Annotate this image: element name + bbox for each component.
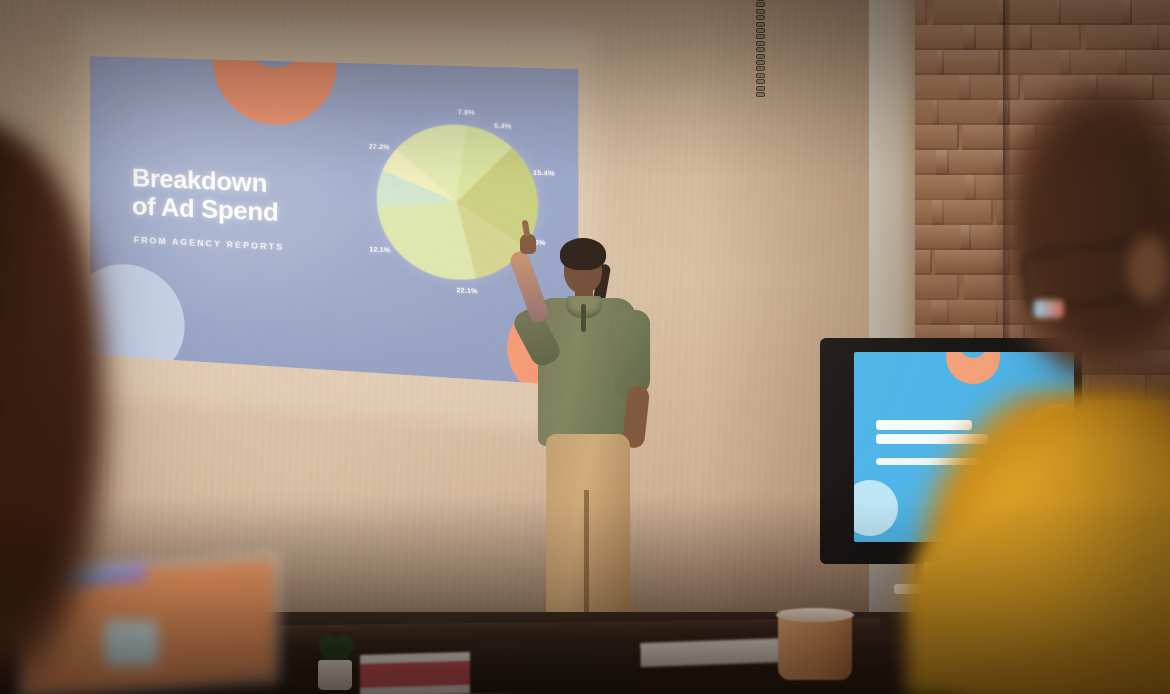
slide-title: Breakdown of Ad Spend	[132, 164, 349, 231]
eyeglasses-reflection	[1034, 300, 1064, 318]
presenter-arm-projection-light	[508, 249, 551, 325]
plant-pot	[318, 660, 352, 690]
dark-device	[470, 642, 640, 694]
pie-label-1: 5.4%	[494, 123, 511, 131]
hanging-chain-icon	[756, 0, 765, 102]
presenter-pants-seam	[584, 490, 589, 630]
pie-label-2: 15.4%	[533, 169, 555, 177]
presenter-hand	[520, 234, 536, 254]
foreground-person-right-ear	[1128, 236, 1170, 302]
coffee-cup-rim	[776, 608, 854, 622]
monitor-slide-circle	[854, 480, 898, 536]
meeting-room-scene: Breakdown of Ad Spend FROM AGENCY REPORT…	[0, 0, 1170, 694]
pie-label-4: 22.1%	[456, 287, 477, 295]
presenter-shirt-placket	[581, 304, 586, 332]
presenter-right-sleeve	[614, 310, 650, 396]
pie-label-6: 27.2%	[369, 143, 390, 151]
foreground-person-right-shirt	[906, 506, 1170, 694]
presenter-hair	[560, 238, 606, 270]
pie-label-0: 7.8%	[458, 109, 475, 117]
pie-label-5: 12.1%	[369, 246, 390, 254]
presenter	[506, 228, 686, 640]
